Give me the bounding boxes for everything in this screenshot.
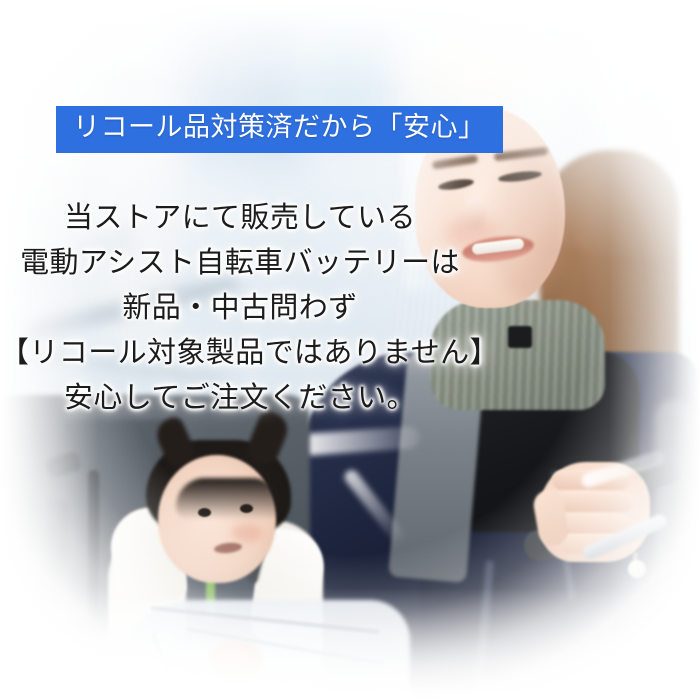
body-copy: 当ストアにて販売している 電動アシスト自転車バッテリーは 新品・中古問わず 【リ… <box>0 196 480 421</box>
copy-line-2: 電動アシスト自転車バッテリーは <box>0 241 480 286</box>
recall-assurance-banner: リコール品対策済だから「安心」 <box>56 106 503 153</box>
text-overlay: リコール品対策済だから「安心」 当ストアにて販売している 電動アシスト自転車バッ… <box>0 0 700 700</box>
copy-line-1: 当ストアにて販売している <box>0 196 480 241</box>
copy-line-4: 【リコール対象製品ではありません】 <box>0 331 480 376</box>
copy-line-3: 新品・中古問わず <box>0 286 480 331</box>
promo-banner-image: リコール品対策済だから「安心」 当ストアにて販売している 電動アシスト自転車バッ… <box>0 0 700 700</box>
copy-line-5: 安心してご注文ください。 <box>0 376 480 421</box>
